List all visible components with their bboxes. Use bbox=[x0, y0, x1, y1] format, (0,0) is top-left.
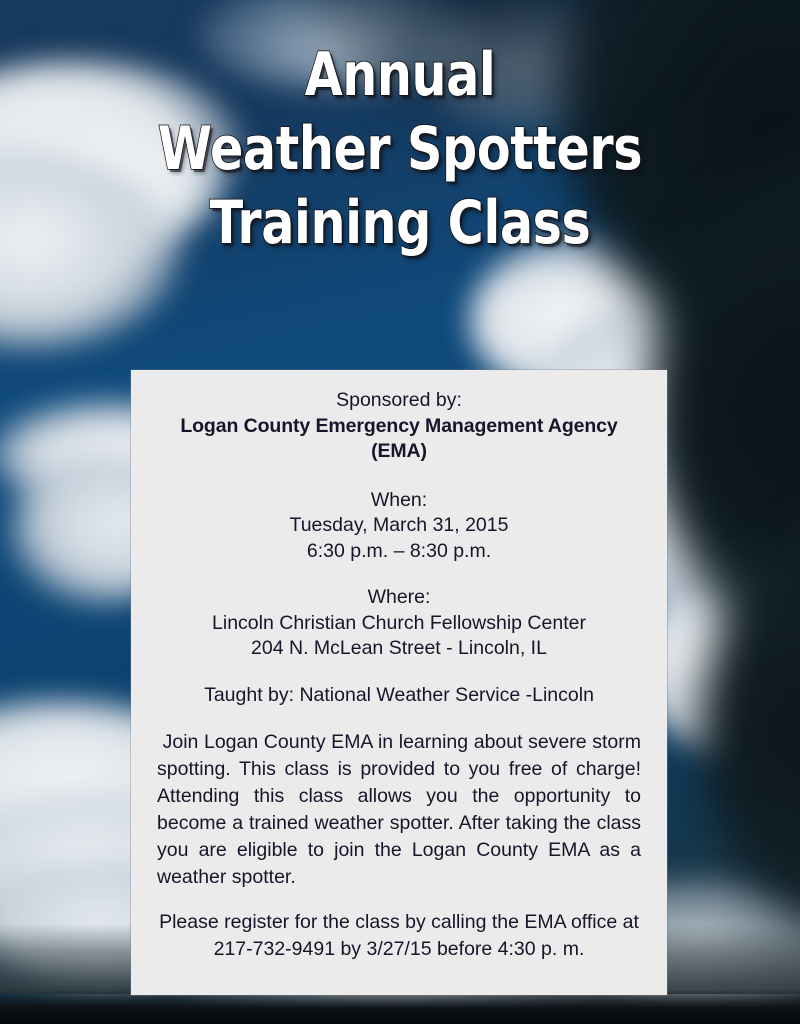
when-label: When: bbox=[157, 488, 641, 514]
where-venue: Lincoln Christian Church Fellowship Cent… bbox=[157, 611, 641, 637]
when-block: When: Tuesday, March 31, 2015 6:30 p.m. … bbox=[157, 488, 641, 565]
sponsor-name: Logan County Emergency Management Agency bbox=[157, 414, 641, 440]
where-label: Where: bbox=[157, 585, 641, 611]
spacer-1 bbox=[157, 465, 641, 488]
spacer-3 bbox=[157, 662, 641, 683]
details-panel: Sponsored by: Logan County Emergency Man… bbox=[131, 370, 667, 995]
spacer-4 bbox=[157, 708, 641, 729]
taught-by-line: Taught by: National Weather Service -Lin… bbox=[157, 683, 641, 709]
when-date: Tuesday, March 31, 2015 bbox=[157, 513, 641, 539]
title-line-2: Weather Spotters bbox=[72, 112, 728, 186]
spacer-2 bbox=[157, 564, 641, 585]
sponsor-block: Sponsored by: Logan County Emergency Man… bbox=[157, 388, 641, 465]
flyer-poster: Annual Weather Spotters Training Class S… bbox=[0, 0, 800, 1024]
where-address: 204 N. McLean Street - Lincoln, IL bbox=[157, 636, 641, 662]
poster-title: Annual Weather Spotters Training Class bbox=[0, 38, 800, 260]
spacer-5 bbox=[157, 891, 641, 909]
where-block: Where: Lincoln Christian Church Fellowsh… bbox=[157, 585, 641, 662]
when-time: 6:30 p.m. – 8:30 p.m. bbox=[157, 539, 641, 565]
sponsored-by-label: Sponsored by: bbox=[157, 388, 641, 414]
description-paragraph: Join Logan County EMA in learning about … bbox=[157, 729, 641, 891]
registration-paragraph: Please register for the class by calling… bbox=[157, 909, 641, 963]
title-line-3: Training Class bbox=[72, 186, 728, 260]
title-line-1: Annual bbox=[72, 38, 728, 112]
horizon-band bbox=[0, 990, 800, 1024]
sponsor-abbrev: (EMA) bbox=[157, 439, 641, 465]
